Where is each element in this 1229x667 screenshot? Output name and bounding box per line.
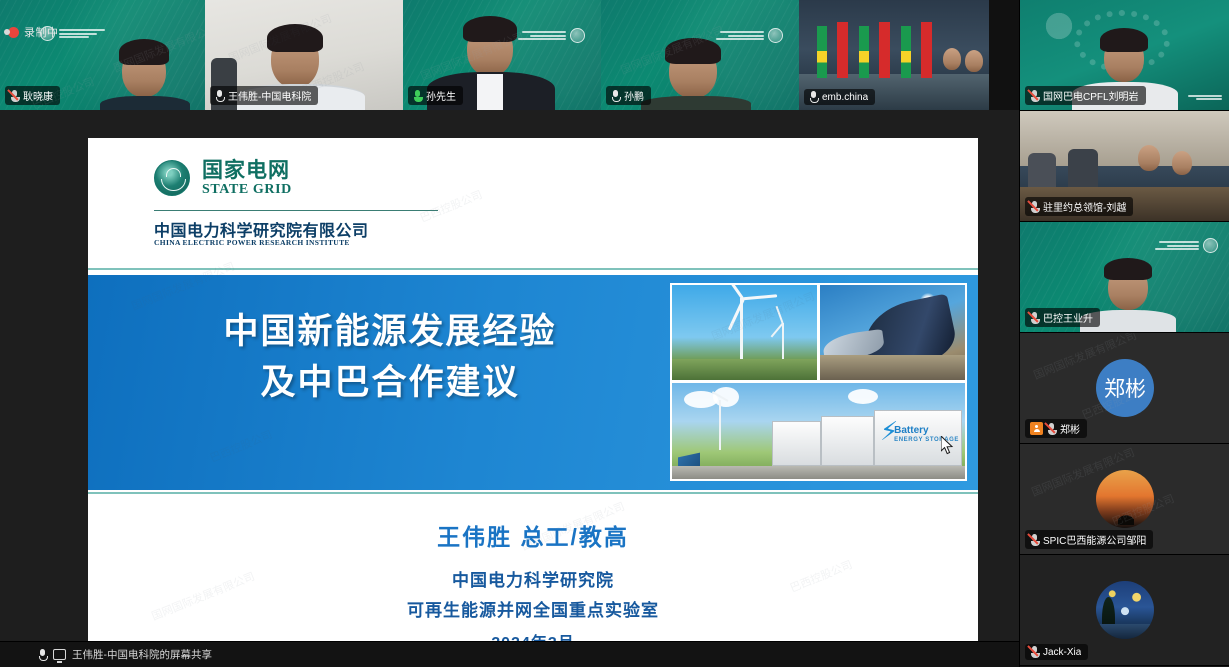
flag-china (921, 22, 932, 78)
avatar (1096, 581, 1154, 639)
participant-sidebar: 国网巴电CPFL刘明岩 驻里约总领馆-刘越 (1019, 0, 1229, 667)
flag-china (879, 22, 890, 78)
mic-muted-icon (1047, 423, 1056, 435)
state-grid-logo-icon (518, 28, 585, 43)
slide-title-line2: 及中巴合作建议 (110, 358, 670, 409)
mic-icon (611, 90, 620, 102)
avatar-initials: 郑彬 (1104, 373, 1146, 403)
mic-active-icon (413, 90, 422, 102)
logo-divider (154, 210, 438, 211)
nameplate: emb.china (804, 89, 875, 105)
participant-name: 耿晓康 (23, 88, 53, 103)
state-grid-logo-icon (1155, 238, 1218, 253)
chair (1068, 149, 1098, 187)
nameplate: 孙鹏 (606, 86, 651, 105)
attendee-face (943, 48, 961, 70)
participant-name: 驻里约总领馆-刘越 (1043, 199, 1126, 214)
photo-wind-turbines (672, 285, 817, 380)
video-tile-wangweisheng[interactable]: 国网国际发展有限公司 巴西控股公司 王伟胜-中国电科院 (205, 0, 403, 110)
mic-muted-icon (1030, 646, 1039, 658)
participant-torso (641, 96, 751, 110)
mic-muted-icon (10, 90, 19, 102)
mic-icon (38, 649, 47, 661)
sidebar-tile-zouyang[interactable]: 国网国际发展有限公司 巴西控股公司 SPIC巴西能源公司邹阳 (1020, 444, 1229, 555)
nameplate: SPIC巴西能源公司邹阳 (1025, 530, 1153, 549)
recording-dot-icon (8, 27, 19, 38)
presentation-slide: 国家电网 STATE GRID 中国电力科学研究院有限公司 CHINA ELEC… (88, 138, 978, 641)
nameplate: 国网巴电CPFL刘明岩 (1025, 86, 1146, 105)
flag-china (837, 22, 848, 78)
mic-muted-icon (1030, 201, 1039, 213)
slide-title-banner: 中国新能源发展经验 及中巴合作建议 (88, 275, 978, 490)
photo-solar-concentrator (820, 285, 965, 380)
host-badge-icon (1030, 422, 1043, 435)
slide-title-line1: 中国新能源发展经验 (110, 307, 670, 358)
participant-name: Jack-Xia (1043, 647, 1081, 658)
shared-screen-area[interactable]: 国家电网 STATE GRID 中国电力科学研究院有限公司 CHINA ELEC… (0, 110, 1019, 641)
header-divider (88, 268, 978, 270)
sidebar-tile-liuyue[interactable]: 驻里约总领馆-刘越 (1020, 111, 1229, 222)
participant-hair (463, 16, 517, 42)
mic-muted-icon (1030, 312, 1039, 324)
state-grid-emblem-icon (154, 160, 190, 196)
sidebar-tile-wangyesheng[interactable]: 巴控王业升 (1020, 222, 1229, 333)
participant-hair (665, 38, 721, 64)
mic-muted-icon (1030, 534, 1039, 546)
mic-muted-icon (1030, 90, 1039, 102)
sidebar-tile-liumingyan[interactable]: 国网巴电CPFL刘明岩 (1020, 0, 1229, 111)
nameplate: 孙先生 (408, 86, 463, 105)
avatar (1096, 470, 1154, 528)
participant-name: 郑彬 (1060, 421, 1080, 436)
participant-name: 孙鹏 (624, 88, 644, 103)
nameplate: 耿晓康 (5, 86, 60, 105)
nameplate: Jack-Xia (1025, 644, 1088, 660)
participant-name: 国网巴电CPFL刘明岩 (1043, 88, 1139, 103)
state-grid-logo-icon (716, 28, 783, 43)
attendee-face (1138, 145, 1160, 171)
participant-hair (1104, 258, 1152, 280)
recording-label: 录制中 (24, 24, 59, 40)
zoom-meeting-window: 录制中 国网国际发展有限公司 巴西控股公司 耿晓康 (0, 0, 1229, 667)
nameplate: 巴控王业升 (1025, 308, 1100, 327)
mouse-cursor-icon (941, 436, 954, 455)
screen-share-icon (53, 649, 66, 660)
sidebar-tile-jackxia[interactable]: Jack-Xia (1020, 555, 1229, 666)
image-collage: ⚡ Battery ENERGY STORAGE (670, 283, 967, 481)
flag-brazil (901, 26, 911, 78)
participant-name: SPIC巴西能源公司邹阳 (1043, 532, 1146, 547)
banner-bottom-divider (88, 492, 978, 494)
presenter-name: 王伟胜 总工/教高 (88, 518, 978, 552)
participant-name: 王伟胜-中国电科院 (228, 88, 311, 103)
state-grid-logo-icon (1188, 95, 1222, 101)
attendee-face (965, 50, 983, 72)
flag-brazil (817, 26, 827, 78)
video-tile-embchina[interactable]: emb.china (799, 0, 989, 110)
video-tile-gengxiaokang[interactable]: 国网国际发展有限公司 巴西控股公司 耿晓康 (0, 0, 205, 110)
logo-english-text: STATE GRID (202, 182, 292, 199)
state-grid-logo-block: 国家电网 STATE GRID (154, 160, 292, 199)
video-tile-sunpeng[interactable]: 国网国际发展有限公司 孙鹏 (601, 0, 799, 110)
participant-hair (119, 39, 169, 65)
participant-name: 孙先生 (426, 88, 456, 103)
slide-title: 中国新能源发展经验 及中巴合作建议 (110, 307, 670, 409)
nameplate: 郑彬 (1025, 419, 1087, 438)
flag-brazil (859, 26, 869, 78)
presenter-laboratory: 可再生能源并网全国重点实验室 (88, 596, 978, 621)
shirt (477, 74, 503, 110)
presenter-organization: 中国电力科学研究院 (88, 566, 978, 591)
video-tile-mrsun-active-speaker[interactable]: 国网国际发展有限公司 孙先生 (403, 0, 601, 110)
mic-icon (809, 91, 818, 103)
nameplate: 驻里约总领馆-刘越 (1025, 197, 1133, 216)
presentation-date: 2024年3月 (88, 629, 978, 641)
presenter-block: 王伟胜 总工/教高 中国电力科学研究院 可再生能源并网全国重点实验室 2024年… (88, 518, 978, 641)
participant-hair (1100, 28, 1148, 52)
sidebar-tile-zhengbin[interactable]: 郑彬 国网国际发展有限公司 巴西控股公司 郑彬 (1020, 333, 1229, 444)
mic-icon (215, 90, 224, 102)
logo-chinese-text: 国家电网 (202, 160, 292, 182)
share-status-bar: 王伟胜-中国电科院的屏幕共享 (0, 641, 1019, 667)
participant-filmstrip: 国网国际发展有限公司 巴西控股公司 耿晓康 国网国际发展有限公司 巴西控股公司 … (0, 0, 1019, 110)
battery-label: Battery (894, 425, 928, 436)
participant-hair (267, 24, 323, 52)
institute-name-en: CHINA ELECTRIC POWER RESEARCH INSTITUTE (154, 238, 350, 247)
recording-indicator: 录制中 (8, 24, 59, 40)
chair (1028, 153, 1056, 187)
participant-name: 巴控王业升 (1043, 310, 1093, 325)
photo-battery-storage: ⚡ Battery ENERGY STORAGE (672, 383, 965, 479)
participant-name: emb.china (822, 92, 868, 103)
share-status-label: 王伟胜-中国电科院的屏幕共享 (72, 647, 212, 662)
attendee-face (1172, 151, 1192, 175)
participant-torso (100, 96, 190, 110)
nameplate: 王伟胜-中国电科院 (210, 86, 318, 105)
avatar: 郑彬 (1096, 359, 1154, 417)
